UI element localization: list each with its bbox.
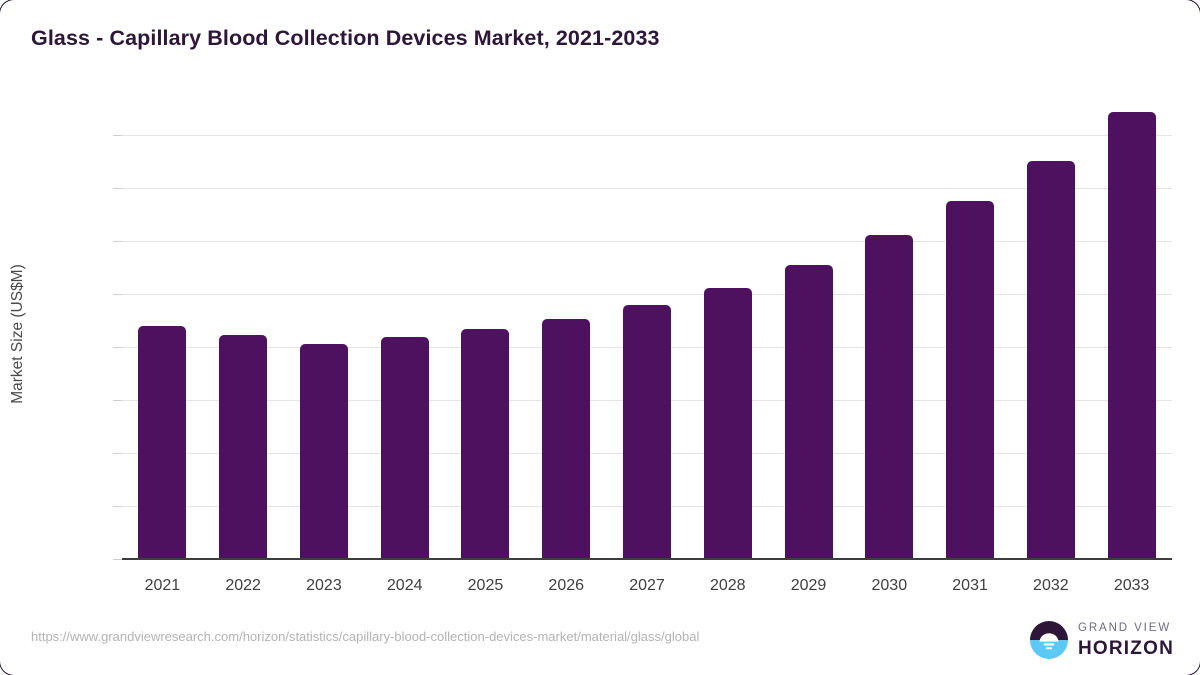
brand-line-2: HORIZON [1078,639,1174,658]
bar[interactable] [946,201,994,559]
gridline [122,294,1172,295]
bar[interactable] [542,319,590,559]
x-axis-tick-label: 2030 [872,577,908,595]
bar[interactable] [865,235,913,559]
y-axis-tick-mark [113,400,122,401]
bar[interactable] [785,265,833,559]
bar[interactable] [704,288,752,559]
gridline [122,188,1172,189]
x-axis-tick-label: 2023 [306,577,342,595]
bar[interactable] [381,337,429,559]
x-axis-tick-label: 2032 [1033,577,1069,595]
y-axis-title: Market Size (US$M) [9,264,27,404]
x-axis-tick-label: 2033 [1114,577,1150,595]
gridline [122,241,1172,242]
sunrise-circle-icon [1029,620,1069,660]
bar[interactable] [219,335,267,559]
bar[interactable] [623,305,671,559]
x-axis-tick-label: 2028 [710,577,746,595]
x-axis-tick-label: 2026 [548,577,584,595]
brand-wordmark: GRAND VIEW HORIZON [1078,622,1174,658]
x-axis-tick-label: 2025 [468,577,504,595]
plot-area: Market Size (US$M) 010020030040050060070… [122,108,1172,559]
source-url[interactable]: https://www.grandviewresearch.com/horizo… [31,629,699,644]
y-axis-tick-mark [113,559,122,560]
chart-page: Glass - Capillary Blood Collection Devic… [0,0,1200,675]
x-axis-tick-label: 2024 [387,577,423,595]
brand-line-1: GRAND VIEW [1078,623,1174,635]
bar[interactable] [1027,161,1075,559]
y-axis-tick-mark [113,506,122,507]
bar[interactable] [1108,112,1156,559]
x-axis-tick-label: 2029 [791,577,827,595]
x-axis-tick-label: 2022 [225,577,261,595]
gridline [122,135,1172,136]
y-axis-tick-mark [113,135,122,136]
bar[interactable] [461,329,509,559]
x-axis-line [122,558,1172,560]
page-title: Glass - Capillary Blood Collection Devic… [31,26,660,51]
brand-logo[interactable]: GRAND VIEW HORIZON [1029,620,1174,660]
y-axis-tick-mark [113,347,122,348]
y-axis-tick-mark [113,453,122,454]
bar[interactable] [138,326,186,559]
y-axis-tick-mark [113,241,122,242]
x-axis-tick-label: 2021 [145,577,181,595]
y-axis-tick-mark [113,294,122,295]
y-axis-tick-mark [113,188,122,189]
x-axis-tick-label: 2031 [952,577,988,595]
x-axis-tick-label: 2027 [629,577,665,595]
bar[interactable] [300,344,348,559]
